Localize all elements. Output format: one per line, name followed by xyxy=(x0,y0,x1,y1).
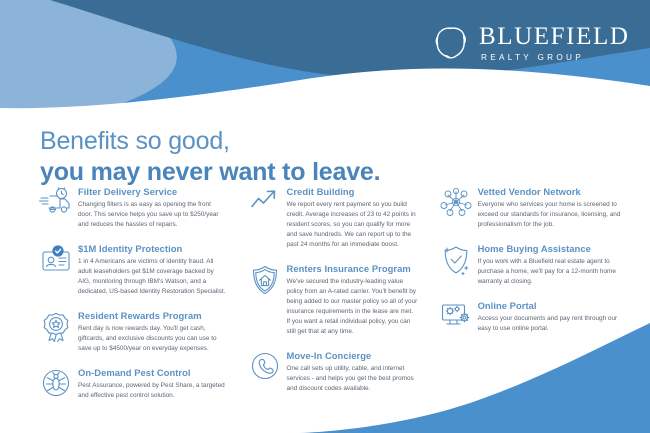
benefit-title: Renters Insurance Program xyxy=(287,263,418,274)
benefit-title: Filter Delivery Service xyxy=(78,186,227,197)
benefit-title: Move-In Concierge xyxy=(287,350,418,361)
benefit-identity-protection: $1M Identity Protection 1 in 4 Americans… xyxy=(36,243,227,297)
benefit-title: Home Buying Assistance xyxy=(478,243,630,254)
benefit-body: Access your documents and pay rent throu… xyxy=(478,314,630,334)
benefit-body: We've secured the industry-leading value… xyxy=(287,277,418,337)
benefit-credit-building: Credit Building We report every rent pay… xyxy=(245,186,418,250)
benefit-online-portal: Online Portal Access your documents and … xyxy=(436,300,630,334)
phone-circle-icon xyxy=(245,350,285,381)
monitor-gears-icon xyxy=(436,300,476,329)
benefit-home-buying-assistance: Home Buying Assistance If you work with … xyxy=(436,243,630,287)
benefit-text: Vetted Vendor Network Everyone who servi… xyxy=(476,186,630,230)
pest-bug-icon xyxy=(36,367,76,398)
benefit-title: Vetted Vendor Network xyxy=(478,186,630,197)
page-headline: Benefits so good, you may never want to … xyxy=(40,126,380,188)
benefit-body: We report every rent payment so you buil… xyxy=(287,200,418,250)
brand-logo[interactable]: BLUEFIELD REALTY GROUP xyxy=(432,24,630,62)
benefits-column-2: Credit Building We report every rent pay… xyxy=(245,186,418,414)
benefit-on-demand-pest-control: On-Demand Pest Control Pest Assurance, p… xyxy=(36,367,227,401)
benefit-text: $1M Identity Protection 1 in 4 Americans… xyxy=(76,243,227,297)
benefit-body: One call sets up utility, cable, and int… xyxy=(287,364,418,394)
benefit-text: Home Buying Assistance If you work with … xyxy=(476,243,630,287)
benefit-text: Renters Insurance Program We've secured … xyxy=(285,263,418,337)
headline-line-2: you may never want to leave. xyxy=(40,157,380,188)
benefit-body: If you work with a Bluefield real estate… xyxy=(478,257,630,287)
logo-brand-name: BLUEFIELD xyxy=(479,24,630,50)
shield-home-icon xyxy=(245,263,285,296)
benefit-body: Changing filters is as easy as opening t… xyxy=(78,200,227,230)
delivery-truck-icon xyxy=(36,186,76,217)
id-card-check-icon xyxy=(36,243,76,274)
rope-ring-icon xyxy=(432,24,470,62)
benefit-body: 1 in 4 Americans are victims of identity… xyxy=(78,257,227,297)
benefit-resident-rewards-program: Resident Rewards Program Rent day is now… xyxy=(36,310,227,354)
benefit-body: Everyone who services your home is scree… xyxy=(478,200,630,230)
vendor-network-icon xyxy=(436,186,476,217)
benefit-body: Pest Assurance, powered by Pest Share, a… xyxy=(78,381,227,401)
logo-text-block: BLUEFIELD REALTY GROUP xyxy=(479,24,630,62)
headline-line-1: Benefits so good, xyxy=(40,126,380,157)
benefit-body: Rent day is now rewards day. You'll get … xyxy=(78,324,227,354)
benefit-title: Online Portal xyxy=(478,300,630,311)
shield-check-sparkle-icon xyxy=(436,243,476,276)
benefit-filter-delivery-service: Filter Delivery Service Changing filters… xyxy=(36,186,227,230)
header-banner: BLUEFIELD REALTY GROUP xyxy=(0,0,650,115)
benefit-title: $1M Identity Protection xyxy=(78,243,227,254)
benefit-renters-insurance-program: Renters Insurance Program We've secured … xyxy=(245,263,418,337)
benefit-move-in-concierge: Move-In Concierge One call sets up utili… xyxy=(245,350,418,394)
benefit-title: Credit Building xyxy=(287,186,418,197)
benefit-text: Credit Building We report every rent pay… xyxy=(285,186,418,250)
benefit-text: Resident Rewards Program Rent day is now… xyxy=(76,310,227,354)
benefits-grid: Filter Delivery Service Changing filters… xyxy=(36,186,630,414)
benefit-text: Filter Delivery Service Changing filters… xyxy=(76,186,227,230)
benefit-text: On-Demand Pest Control Pest Assurance, p… xyxy=(76,367,227,401)
benefit-text: Move-In Concierge One call sets up utili… xyxy=(285,350,418,394)
benefit-text: Online Portal Access your documents and … xyxy=(476,300,630,334)
award-ribbon-icon xyxy=(36,310,76,343)
benefit-title: On-Demand Pest Control xyxy=(78,367,227,378)
benefits-column-1: Filter Delivery Service Changing filters… xyxy=(36,186,227,414)
logo-tagline: REALTY GROUP xyxy=(479,53,630,62)
benefits-column-3: Vetted Vendor Network Everyone who servi… xyxy=(436,186,630,414)
growth-arrow-icon xyxy=(245,186,285,213)
benefit-vetted-vendor-network: Vetted Vendor Network Everyone who servi… xyxy=(436,186,630,230)
benefit-title: Resident Rewards Program xyxy=(78,310,227,321)
